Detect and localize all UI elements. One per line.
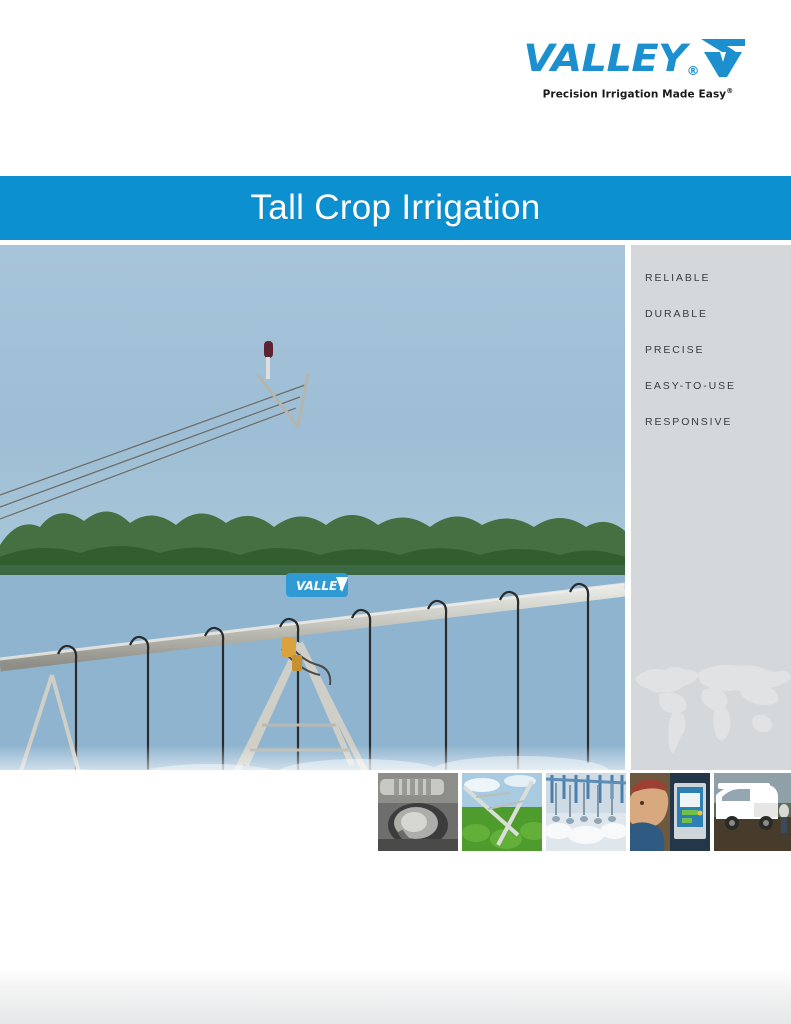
title-banner: Tall Crop Irrigation	[0, 176, 791, 240]
sprinkler-drops-thumbnail	[546, 773, 626, 851]
service-truck-thumbnail	[714, 773, 791, 851]
hero-illustration: VALLEY	[0, 245, 625, 770]
logo-registered-mark: ®	[686, 64, 698, 78]
valley-logo: VALLEY® Precision Irrigation Made Easy®	[533, 36, 743, 108]
hero-image: VALLEY	[0, 245, 625, 770]
logo-wordmark: VALLEY®	[523, 40, 698, 77]
tagline-registered-mark: ®	[726, 87, 733, 95]
thumbnail-strip	[378, 773, 791, 851]
pivot-span-illustration	[462, 773, 542, 851]
bottom-gradient	[0, 968, 791, 1024]
control-panel-operator-illustration	[630, 773, 710, 851]
keyword-precise: PRECISE	[645, 344, 736, 356]
keyword-list: RELIABLE DURABLE PRECISE EASY-TO-USE RES…	[645, 272, 736, 428]
pivot-span-over-crops-thumbnail	[462, 773, 542, 851]
control-panel-operator-thumbnail	[630, 773, 710, 851]
logo-row: VALLEY®	[530, 36, 746, 80]
page-title: Tall Crop Irrigation	[251, 188, 541, 228]
keyword-easy-to-use: EASY-TO-USE	[645, 380, 736, 392]
service-truck-illustration	[714, 773, 791, 851]
brochure-cover-page: VALLEY® Precision Irrigation Made Easy® …	[0, 0, 791, 1024]
world-map-watermark-icon	[631, 642, 791, 762]
gearbox-drivetrain-illustration	[378, 773, 458, 851]
hero-valley-sign: VALLEY	[286, 573, 348, 597]
keyword-sidebar: RELIABLE DURABLE PRECISE EASY-TO-USE RES…	[631, 245, 791, 770]
logo-tagline: Precision Irrigation Made Easy®	[543, 87, 734, 101]
keyword-durable: DURABLE	[645, 308, 736, 320]
sprinkler-drops-illustration	[546, 773, 626, 851]
gearbox-drivetrain-thumbnail	[378, 773, 458, 851]
valley-v-arrow-mark-icon	[700, 38, 746, 78]
keyword-responsive: RESPONSIVE	[645, 416, 736, 428]
keyword-reliable: RELIABLE	[645, 272, 736, 284]
